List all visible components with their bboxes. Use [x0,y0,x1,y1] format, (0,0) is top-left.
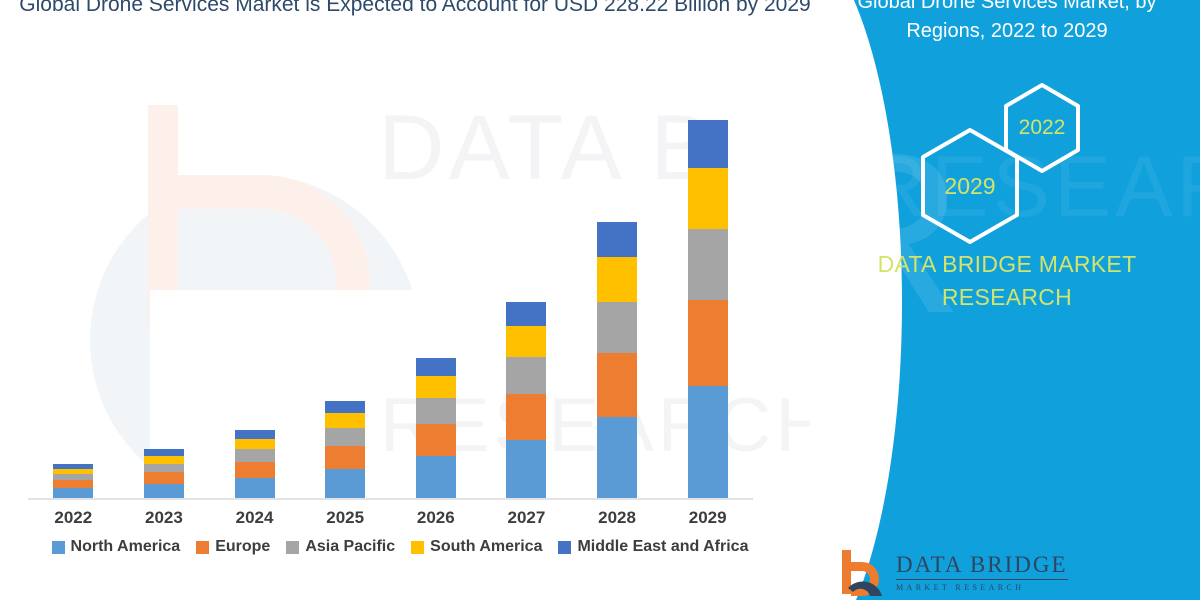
bar-2027[interactable] [506,301,546,498]
legend-label: Middle East and Africa [577,538,748,556]
bar-segment[interactable] [416,456,456,498]
panel-title: Global Drone Services Market, by Regions… [828,0,1186,46]
bar-2022[interactable] [53,464,93,498]
bar-segment[interactable] [416,398,456,424]
chart-plot-area [28,120,753,500]
brand-panel: R RESEARCH Global Drone Services Market,… [810,0,1200,600]
bar-segment[interactable] [506,357,546,393]
bar-segment[interactable] [325,446,365,469]
bar-2025[interactable] [325,401,365,498]
hexagon-2029-label: 2029 [944,173,995,200]
legend-item[interactable]: South America [411,538,542,556]
bar-segment[interactable] [144,456,184,464]
bar-segment[interactable] [235,439,275,450]
x-axis-tick-2026: 2026 [391,508,481,528]
databridge-b-icon [840,548,886,596]
bar-segment[interactable] [688,229,728,300]
legend-swatch-icon [558,541,571,554]
x-axis-tick-2022: 2022 [28,508,118,528]
bar-segment[interactable] [144,464,184,473]
bar-group-2026 [391,120,481,498]
hexagon-2022: 2022 [1002,82,1082,174]
bar-group-2024 [210,120,300,498]
bar-group-2029 [663,120,753,498]
x-axis-tick-2023: 2023 [119,508,209,528]
x-axis-tick-2028: 2028 [572,508,662,528]
legend-swatch-icon [411,541,424,554]
bar-2028[interactable] [597,222,637,498]
legend-label: Europe [215,538,270,556]
bar-2024[interactable] [235,430,275,498]
bar-group-2023 [119,120,209,498]
bar-group-2022 [28,120,118,498]
bar-segment[interactable] [416,358,456,376]
bar-segment[interactable] [688,300,728,387]
bar-segment[interactable] [53,480,93,488]
bar-segment[interactable] [144,472,184,484]
legend-label: South America [430,538,542,556]
bar-segment[interactable] [688,120,728,168]
chart-title: Global Drone Services Market is Expected… [10,0,820,20]
bar-2023[interactable] [144,449,184,498]
bar-segment[interactable] [325,401,365,413]
x-axis-tick-2029: 2029 [663,508,753,528]
chart-baseline [28,498,753,500]
bar-segment[interactable] [597,222,637,257]
bar-segment[interactable] [235,478,275,498]
bar-segment[interactable] [416,424,456,457]
bar-segment[interactable] [506,440,546,498]
legend-item[interactable]: Europe [196,538,270,556]
bar-segment[interactable] [144,484,184,498]
chart-legend: North AmericaEuropeAsia PacificSouth Ame… [0,538,800,556]
legend-swatch-icon [52,541,65,554]
bar-2029[interactable] [688,120,728,498]
bar-segment[interactable] [235,449,275,461]
bar-segment[interactable] [506,394,546,440]
legend-label: North America [71,538,181,556]
hexagon-2022-label: 2022 [1019,116,1066,140]
footer-logo-title: DATA BRIDGE [896,553,1068,576]
x-axis-tick-2024: 2024 [210,508,300,528]
bar-segment[interactable] [325,428,365,446]
bar-group-2027 [481,120,571,498]
legend-label: Asia Pacific [305,538,395,556]
panel-brand-name: DATA BRIDGE MARKET RESEARCH [830,248,1184,314]
bar-segment[interactable] [506,326,546,357]
bar-segment[interactable] [416,376,456,398]
chart-panel: DATA B RESEARCH Global Drone Services Ma… [0,0,830,600]
bar-segment[interactable] [688,168,728,229]
footer-logo: DATA BRIDGE MARKET RESEARCH [840,548,1068,596]
legend-swatch-icon [286,541,299,554]
bar-segment[interactable] [597,353,637,417]
bar-segment[interactable] [235,430,275,439]
footer-logo-rule [896,579,1068,580]
bar-segment[interactable] [597,257,637,301]
bar-segment[interactable] [325,469,365,498]
legend-item[interactable]: Middle East and Africa [558,538,748,556]
bar-segment[interactable] [688,386,728,498]
x-axis-tick-2025: 2025 [300,508,390,528]
bar-2026[interactable] [416,358,456,498]
bar-segment[interactable] [53,488,93,498]
x-axis-tick-2027: 2027 [481,508,571,528]
chart-x-axis: 20222023202420252026202720282029 [28,508,753,534]
legend-item[interactable]: Asia Pacific [286,538,395,556]
bar-segment[interactable] [597,417,637,498]
infographic-root: DATA B RESEARCH Global Drone Services Ma… [0,0,1200,600]
bar-segment[interactable] [235,462,275,478]
footer-logo-subtitle: MARKET RESEARCH [896,584,1068,592]
bar-group-2025 [300,120,390,498]
bar-group-2028 [572,120,662,498]
bar-segment[interactable] [325,413,365,428]
legend-item[interactable]: North America [52,538,181,556]
footer-logo-text: DATA BRIDGE MARKET RESEARCH [896,553,1068,592]
bar-segment[interactable] [506,302,546,327]
bar-segment[interactable] [597,302,637,353]
hexagon-group: 2029 2022 [910,88,1150,228]
legend-swatch-icon [196,541,209,554]
